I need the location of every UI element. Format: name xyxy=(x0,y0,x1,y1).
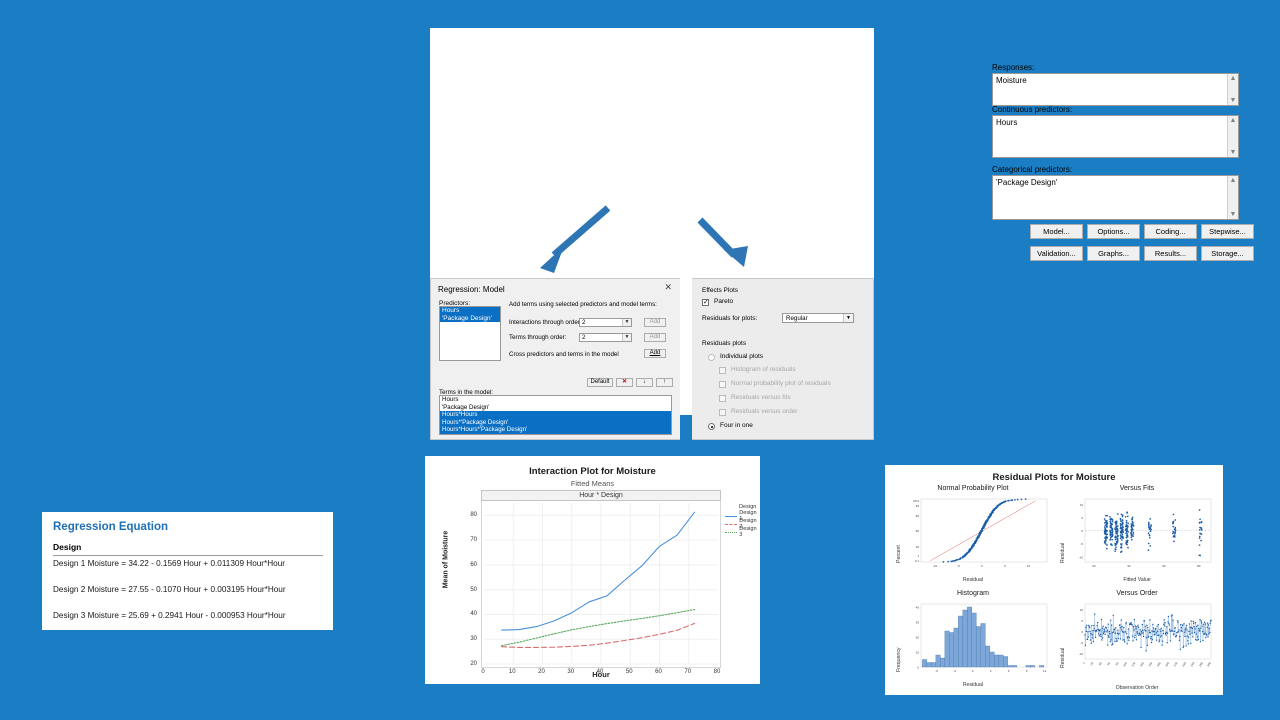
normal-probability-plot-quadrant: Normal Probability Plot Percent 0.111050… xyxy=(893,485,1053,585)
legend-swatch xyxy=(725,532,737,533)
svg-text:3: 3 xyxy=(990,669,992,673)
term-item[interactable]: Hours*Hours xyxy=(440,411,671,419)
normal-probability-plot-subtitle: Normal Probability Plot xyxy=(893,485,1053,492)
add-interactions-button[interactable]: Add xyxy=(644,318,666,327)
scroll-down-icon[interactable]: ▼ xyxy=(1230,149,1237,156)
coding-button[interactable]: Coding... xyxy=(1144,224,1197,239)
legend-swatch xyxy=(725,524,737,525)
categorical-predictors-label: Categorical predictors: xyxy=(992,165,1239,174)
interaction-plot-ytick: 60 xyxy=(463,562,477,568)
equation-line-design-2: Design 2 Moisture = 27.55 - 0.1070 Hour … xyxy=(53,585,286,594)
svg-text:300: 300 xyxy=(1206,661,1212,667)
close-icon[interactable]: ✕ xyxy=(664,283,672,292)
continuous-predictors-value: Hours xyxy=(996,118,1235,128)
responses-label: Responses: xyxy=(992,63,1239,72)
histogram-canvas: 010203040-6-3036912 xyxy=(901,601,1051,681)
residuals-versus-fits-checkbox[interactable] xyxy=(719,395,726,402)
svg-text:-5: -5 xyxy=(957,564,960,568)
svg-text:120: 120 xyxy=(1130,661,1136,667)
svg-text:0.1: 0.1 xyxy=(915,559,920,563)
interaction-plot-card: Interaction Plot for Moisture Fitted Mea… xyxy=(425,456,760,684)
svg-text:80: 80 xyxy=(1197,564,1201,568)
versus-order-quadrant: Versus Order Residual -10-50510120406080… xyxy=(1057,590,1217,690)
svg-text:10: 10 xyxy=(1080,608,1084,612)
svg-text:5: 5 xyxy=(1004,564,1006,568)
interaction-plot-ylabel: Mean of Moisture xyxy=(443,515,450,605)
legend-item: Design 3 xyxy=(725,528,760,536)
svg-text:40: 40 xyxy=(1127,564,1131,568)
residuals-for-plots-value: Regular xyxy=(786,315,808,322)
scroll-down-icon[interactable]: ▼ xyxy=(1230,97,1237,104)
options-button[interactable]: Options... xyxy=(1087,224,1140,239)
svg-text:-10: -10 xyxy=(933,564,938,568)
svg-text:90: 90 xyxy=(916,514,920,518)
interaction-plot-xtick: 70 xyxy=(681,669,695,675)
continuous-predictors-field-group: Continuous predictors: Hours ▲ ▼ xyxy=(992,105,1239,158)
scroll-down-icon[interactable]: ▼ xyxy=(1230,211,1237,218)
versus-fits-quadrant: Versus Fits Residual -10-5051020406080 F… xyxy=(1057,485,1217,585)
radio-dot-icon xyxy=(711,426,713,428)
predictor-item[interactable]: Hours xyxy=(440,307,500,315)
model-button[interactable]: Model... xyxy=(1030,224,1083,239)
regression-equation-title: Regression Equation xyxy=(53,521,168,533)
svg-text:0: 0 xyxy=(981,564,983,568)
equation-line-design-3: Design 3 Moisture = 25.69 + 0.2941 Hour … xyxy=(53,611,286,620)
interaction-plot-xtick: 20 xyxy=(535,669,549,675)
svg-text:180: 180 xyxy=(1156,661,1162,667)
svg-text:60: 60 xyxy=(1162,564,1166,568)
storage-button[interactable]: Storage... xyxy=(1201,246,1254,261)
add-terms-instruction: Add terms using selected predictors and … xyxy=(509,301,657,308)
graphs-button[interactable]: Graphs... xyxy=(1087,246,1140,261)
interaction-plot-ytick: 20 xyxy=(463,661,477,667)
interaction-plot-xtick: 30 xyxy=(564,669,578,675)
svg-text:20: 20 xyxy=(1089,661,1094,666)
svg-text:30: 30 xyxy=(916,621,920,625)
interaction-plot-ytick: 80 xyxy=(463,512,477,518)
interaction-plot-xtick: 40 xyxy=(593,669,607,675)
individual-plots-radio[interactable] xyxy=(708,354,715,361)
svg-text:-3: -3 xyxy=(953,669,956,673)
divider xyxy=(53,555,323,556)
svg-text:260: 260 xyxy=(1189,661,1195,667)
model-dialog-title: Regression: Model xyxy=(438,285,505,294)
interaction-plot-xtick: 60 xyxy=(652,669,666,675)
pareto-label[interactable]: Pareto xyxy=(714,298,733,305)
predictors-listbox[interactable]: Hours 'Package Design' xyxy=(439,306,501,361)
stepwise-button[interactable]: Stepwise... xyxy=(1201,224,1254,239)
interaction-plot-ytick: 70 xyxy=(463,537,477,543)
legend-swatch xyxy=(725,516,737,517)
svg-text:99: 99 xyxy=(916,504,920,508)
svg-text:160: 160 xyxy=(1147,661,1153,667)
normal-probability-plot-xlabel: Residual xyxy=(893,577,1053,583)
four-in-one-radio[interactable] xyxy=(708,423,715,430)
svg-text:6: 6 xyxy=(1008,669,1010,673)
svg-text:99.9: 99.9 xyxy=(913,499,919,503)
normal-probability-plot-checkbox[interactable] xyxy=(719,381,726,388)
continuous-predictors-listbox[interactable]: Hours ▲ ▼ xyxy=(992,115,1239,158)
svg-text:10: 10 xyxy=(1027,564,1031,568)
versus-order-xlabel: Observation Order xyxy=(1057,685,1217,691)
effects-plots-label: Effects Plots xyxy=(702,287,738,294)
svg-text:-10: -10 xyxy=(1079,652,1084,656)
scroll-up-icon[interactable]: ▲ xyxy=(1230,117,1237,124)
svg-text:280: 280 xyxy=(1198,661,1204,667)
scroll-up-icon[interactable]: ▲ xyxy=(1230,177,1237,184)
svg-text:0: 0 xyxy=(1081,529,1083,533)
svg-text:80: 80 xyxy=(1114,661,1119,666)
dialog-lower-region: Regression: Model ✕ Predictors: Hours 'P… xyxy=(430,253,874,415)
check-icon: ✓ xyxy=(703,299,709,307)
versus-order-subtitle: Versus Order xyxy=(1057,590,1217,597)
validation-button[interactable]: Validation... xyxy=(1030,246,1083,261)
categorical-predictors-field-group: Categorical predictors: 'Package Design'… xyxy=(992,165,1239,220)
interaction-plot-ytick: 30 xyxy=(463,636,477,642)
versus-fits-canvas: -10-5051020406080 xyxy=(1065,496,1215,576)
versus-fits-subtitle: Versus Fits xyxy=(1057,485,1217,492)
svg-text:40: 40 xyxy=(1098,661,1103,666)
svg-text:-6: -6 xyxy=(935,669,938,673)
responses-value: Moisture xyxy=(996,76,1235,86)
chevron-down-icon[interactable]: ▼ xyxy=(622,319,631,326)
svg-text:9: 9 xyxy=(1026,669,1028,673)
regression-equation-subhead: Design xyxy=(53,542,81,552)
responses-scrollbar[interactable]: ▲ ▼ xyxy=(1227,74,1238,105)
interaction-plot-frame xyxy=(481,501,721,668)
histogram-of-residuals-label[interactable]: Histogram of residuals xyxy=(731,366,796,373)
chevron-down-icon[interactable]: ▼ xyxy=(622,334,631,341)
delete-term-icon[interactable]: ✕ xyxy=(616,378,633,387)
svg-text:0: 0 xyxy=(972,669,974,673)
normal-probability-plot-label[interactable]: Normal probability plot of residuals xyxy=(731,380,831,387)
dialog-button-grid: Model... Options... Coding... Stepwise..… xyxy=(1030,224,1254,261)
interaction-plot-xtick: 0 xyxy=(476,669,490,675)
svg-text:-10: -10 xyxy=(1079,555,1084,559)
term-item[interactable]: 'Package Design' xyxy=(440,404,671,412)
svg-text:200: 200 xyxy=(1164,661,1170,667)
svg-text:5: 5 xyxy=(1081,516,1083,520)
move-up-icon[interactable]: ↑ xyxy=(656,378,673,387)
cross-predictors-label: Cross predictors and terms in the model xyxy=(509,351,619,358)
default-button[interactable]: Default xyxy=(587,378,613,387)
terms-order-label: Terms through order: xyxy=(509,334,566,341)
terms-order-value: 2 xyxy=(582,335,585,341)
svg-text:10: 10 xyxy=(1080,503,1084,507)
svg-text:10: 10 xyxy=(916,545,920,549)
four-in-one-label[interactable]: Four in one xyxy=(720,422,753,429)
term-item[interactable]: Hours xyxy=(440,396,671,404)
svg-text:10: 10 xyxy=(916,651,920,655)
regression-model-dialog: Regression: Model ✕ Predictors: Hours 'P… xyxy=(430,278,680,440)
interaction-plot-ytick: 50 xyxy=(463,587,477,593)
responses-field-group: Responses: Moisture ▲ ▼ xyxy=(992,63,1239,106)
legend-label: Design 3 xyxy=(739,526,760,538)
equation-line-design-1: Design 1 Moisture = 34.22 - 0.1569 Hour … xyxy=(53,559,285,568)
categorical-predictors-value: 'Package Design' xyxy=(996,178,1235,188)
histogram-quadrant: Histogram Frequency 010203040-6-3036912 … xyxy=(893,590,1053,690)
versus-fits-xlabel: Fitted Value xyxy=(1057,577,1217,583)
histogram-xlabel: Residual xyxy=(893,682,1053,688)
cross-add-button[interactable]: Add xyxy=(644,349,666,358)
residuals-plots-label: Residuals plots xyxy=(702,340,746,347)
terms-in-model-listbox[interactable]: Hours 'Package Design' Hours*Hours Hours… xyxy=(439,395,672,435)
terms-order-combo[interactable]: 2 ▼ xyxy=(579,333,632,342)
term-item[interactable]: Hours*Hours*'Package Design' xyxy=(440,426,671,434)
svg-text:1: 1 xyxy=(1082,661,1086,665)
model-terms-toolbar: Default ✕ ↓ ↑ xyxy=(587,378,673,387)
interaction-plot-xtick: 50 xyxy=(622,669,636,675)
legend-rows: Design 1Design 2Design 3 xyxy=(725,512,760,536)
svg-text:140: 140 xyxy=(1139,661,1145,667)
interaction-plot-xtick: 80 xyxy=(710,669,724,675)
continuous-predictors-label: Continuous predictors: xyxy=(992,105,1239,114)
results-button[interactable]: Results... xyxy=(1144,246,1197,261)
categorical-predictors-listbox[interactable]: 'Package Design' ▲ ▼ xyxy=(992,175,1239,220)
interactions-order-combo[interactable]: 2 ▼ xyxy=(579,318,632,327)
svg-text:-5: -5 xyxy=(1080,641,1083,645)
svg-text:220: 220 xyxy=(1173,661,1179,667)
categorical-predictors-scrollbar[interactable]: ▲ ▼ xyxy=(1227,176,1238,219)
interaction-plot-legend: Design Design 1Design 2Design 3 xyxy=(725,504,760,536)
svg-text:100: 100 xyxy=(1122,661,1128,667)
svg-text:-5: -5 xyxy=(1080,542,1083,546)
normal-probability-plot-canvas: 0.111050909999.9-10-50510 xyxy=(901,496,1051,576)
residuals-versus-order-checkbox[interactable] xyxy=(719,409,726,416)
histogram-subtitle: Histogram xyxy=(893,590,1053,597)
svg-text:0: 0 xyxy=(917,666,919,670)
svg-text:60: 60 xyxy=(1106,661,1111,666)
interaction-plot-xtick: 10 xyxy=(505,669,519,675)
move-down-icon[interactable]: ↓ xyxy=(636,378,653,387)
residual-plots-title: Residual Plots for Moisture xyxy=(885,472,1223,483)
residuals-versus-order-label[interactable]: Residuals versus order xyxy=(731,408,797,415)
predictor-item[interactable]: 'Package Design' xyxy=(440,315,500,323)
svg-text:20: 20 xyxy=(916,636,920,640)
cross-add-button-label: Add xyxy=(650,350,661,356)
regression-dialog-upper: Responses: Moisture ▲ ▼ Continuous predi… xyxy=(430,28,874,253)
svg-text:1: 1 xyxy=(917,554,919,558)
scroll-up-icon[interactable]: ▲ xyxy=(1230,75,1237,82)
residuals-versus-fits-label[interactable]: Residuals versus fits xyxy=(731,394,791,401)
pareto-checkbox[interactable]: ✓ xyxy=(702,299,709,306)
histogram-of-residuals-checkbox[interactable] xyxy=(719,367,726,374)
svg-text:50: 50 xyxy=(916,529,920,533)
add-terms-order-button[interactable]: Add xyxy=(644,333,666,342)
interaction-plot-ytick: 40 xyxy=(463,611,477,617)
interaction-plot-subtitle: Fitted Means xyxy=(425,479,760,488)
regression-equation-card: Regression Equation Design Design 1 Mois… xyxy=(42,512,333,630)
svg-text:240: 240 xyxy=(1181,661,1187,667)
minitab-regression-dialog: Responses: Moisture ▲ ▼ Continuous predi… xyxy=(430,28,874,415)
interactions-order-value: 2 xyxy=(582,320,585,326)
versus-order-canvas: -10-505101204060801001201401601802002202… xyxy=(1065,601,1215,681)
interaction-plot-title: Interaction Plot for Moisture xyxy=(425,466,760,477)
svg-text:12: 12 xyxy=(1043,669,1047,673)
residual-plots-card: Residual Plots for Moisture Normal Proba… xyxy=(885,465,1223,695)
interaction-plot-panel-label: Hour * Design xyxy=(481,490,721,501)
residuals-for-plots-label: Residuals for plots: xyxy=(702,315,757,322)
interactions-order-label: Interactions through order: xyxy=(509,319,582,326)
residuals-for-plots-combo[interactable]: Regular ▼ xyxy=(782,313,854,323)
regression-graphs-dialog: Effects Plots ✓ Pareto Residuals for plo… xyxy=(692,278,874,440)
interaction-plot-canvas xyxy=(482,501,720,666)
responses-listbox[interactable]: Moisture ▲ ▼ xyxy=(992,73,1239,106)
svg-text:40: 40 xyxy=(916,606,920,610)
svg-text:5: 5 xyxy=(1081,619,1083,623)
svg-text:0: 0 xyxy=(1081,630,1083,634)
term-item[interactable]: Hours*'Package Design' xyxy=(440,419,671,427)
svg-text:20: 20 xyxy=(1092,564,1096,568)
continuous-predictors-scrollbar[interactable]: ▲ ▼ xyxy=(1227,116,1238,157)
individual-plots-label[interactable]: Individual plots xyxy=(720,353,763,360)
chevron-down-icon[interactable]: ▼ xyxy=(843,314,853,322)
